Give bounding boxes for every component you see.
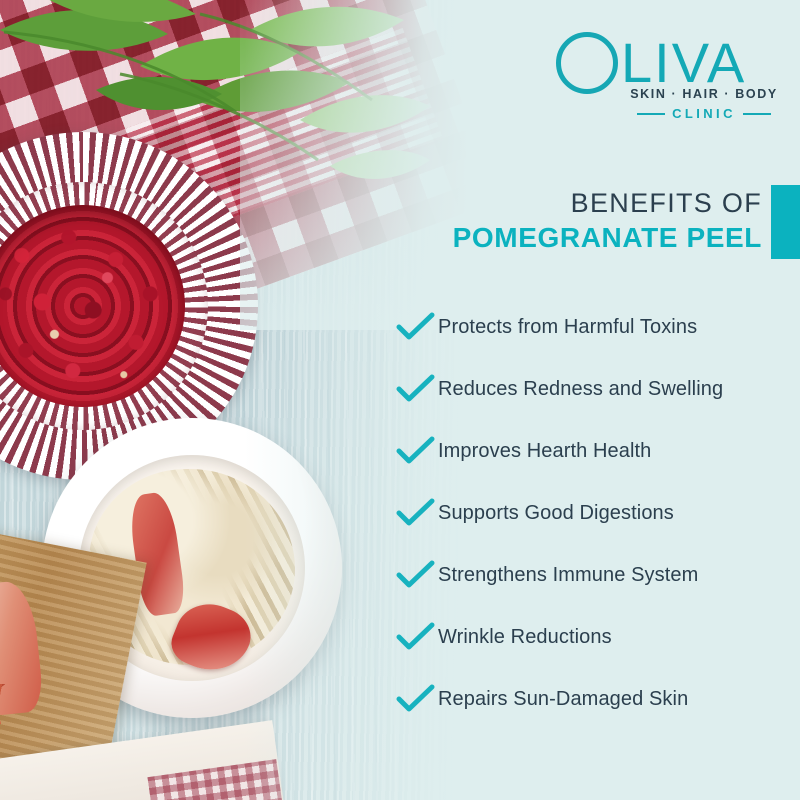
heading-accent-bar	[771, 185, 800, 259]
logo-clinic-row: CLINIC	[620, 106, 788, 121]
check-icon	[396, 560, 438, 590]
logo-tagline: SKIN · HAIR · BODY	[620, 87, 788, 101]
list-item: Improves Hearth Health	[396, 420, 796, 482]
logo-o-ring-icon	[556, 32, 618, 94]
list-item: Repairs Sun-Damaged Skin	[396, 668, 796, 730]
logo-clinic-label: CLINIC	[672, 106, 736, 121]
page-title: BENEFITS OF POMEGRANATE PEEL	[430, 186, 762, 256]
list-item-label: Reduces Redness and Swelling	[438, 376, 723, 402]
list-item-label: Repairs Sun-Damaged Skin	[438, 686, 688, 712]
poster: LIVA SKIN · HAIR · BODY CLINIC BENEFITS …	[0, 0, 800, 800]
check-icon	[396, 498, 438, 528]
benefits-list: Protects from Harmful Toxins Reduces Red…	[396, 296, 796, 730]
logo-name-rest: LIVA	[621, 35, 746, 91]
oliva-logo[interactable]: LIVA SKIN · HAIR · BODY CLINIC	[556, 32, 788, 124]
logo-wordmark: LIVA	[556, 32, 746, 94]
heading-line-2: POMEGRANATE PEEL	[430, 220, 762, 256]
check-icon	[396, 622, 438, 652]
list-item-label: Strengthens Immune System	[438, 562, 698, 588]
list-item: Protects from Harmful Toxins	[396, 296, 796, 358]
check-icon	[396, 684, 438, 714]
list-item: Wrinkle Reductions	[396, 606, 796, 668]
list-item-label: Improves Hearth Health	[438, 438, 651, 464]
list-item-label: Protects from Harmful Toxins	[438, 314, 697, 340]
check-icon	[396, 374, 438, 404]
logo-rule-right	[743, 113, 771, 115]
check-icon	[396, 436, 438, 466]
heading-line-1: BENEFITS OF	[430, 186, 762, 220]
list-item-label: Supports Good Digestions	[438, 500, 674, 526]
logo-rule-left	[637, 113, 665, 115]
list-item: Reduces Redness and Swelling	[396, 358, 796, 420]
check-icon	[396, 312, 438, 342]
list-item-label: Wrinkle Reductions	[438, 624, 612, 650]
list-item: Strengthens Immune System	[396, 544, 796, 606]
list-item: Supports Good Digestions	[396, 482, 796, 544]
content-panel: LIVA SKIN · HAIR · BODY CLINIC BENEFITS …	[0, 0, 800, 800]
